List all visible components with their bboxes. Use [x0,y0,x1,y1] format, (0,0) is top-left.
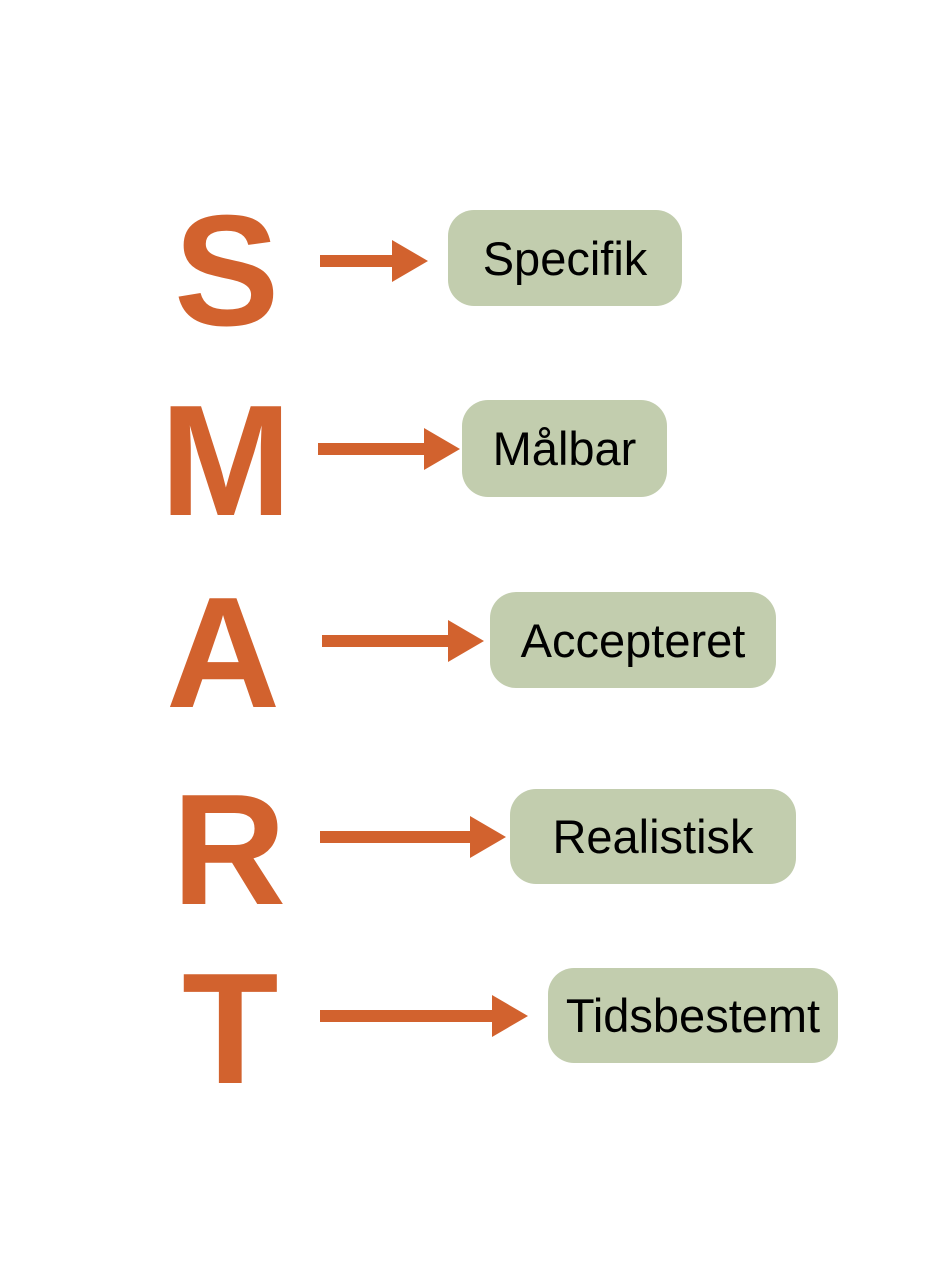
right-arrow-icon-t [320,995,528,1037]
smart-goals-diagram: S Specifik M Målbar A Accepteret R [0,0,932,1286]
smart-row-t: T Tidsbestemt [0,0,932,1286]
smart-letter-t: T [182,950,279,1108]
smart-box-label-t: Tidsbestemt [566,992,820,1039]
smart-box-t: Tidsbestemt [548,968,838,1063]
